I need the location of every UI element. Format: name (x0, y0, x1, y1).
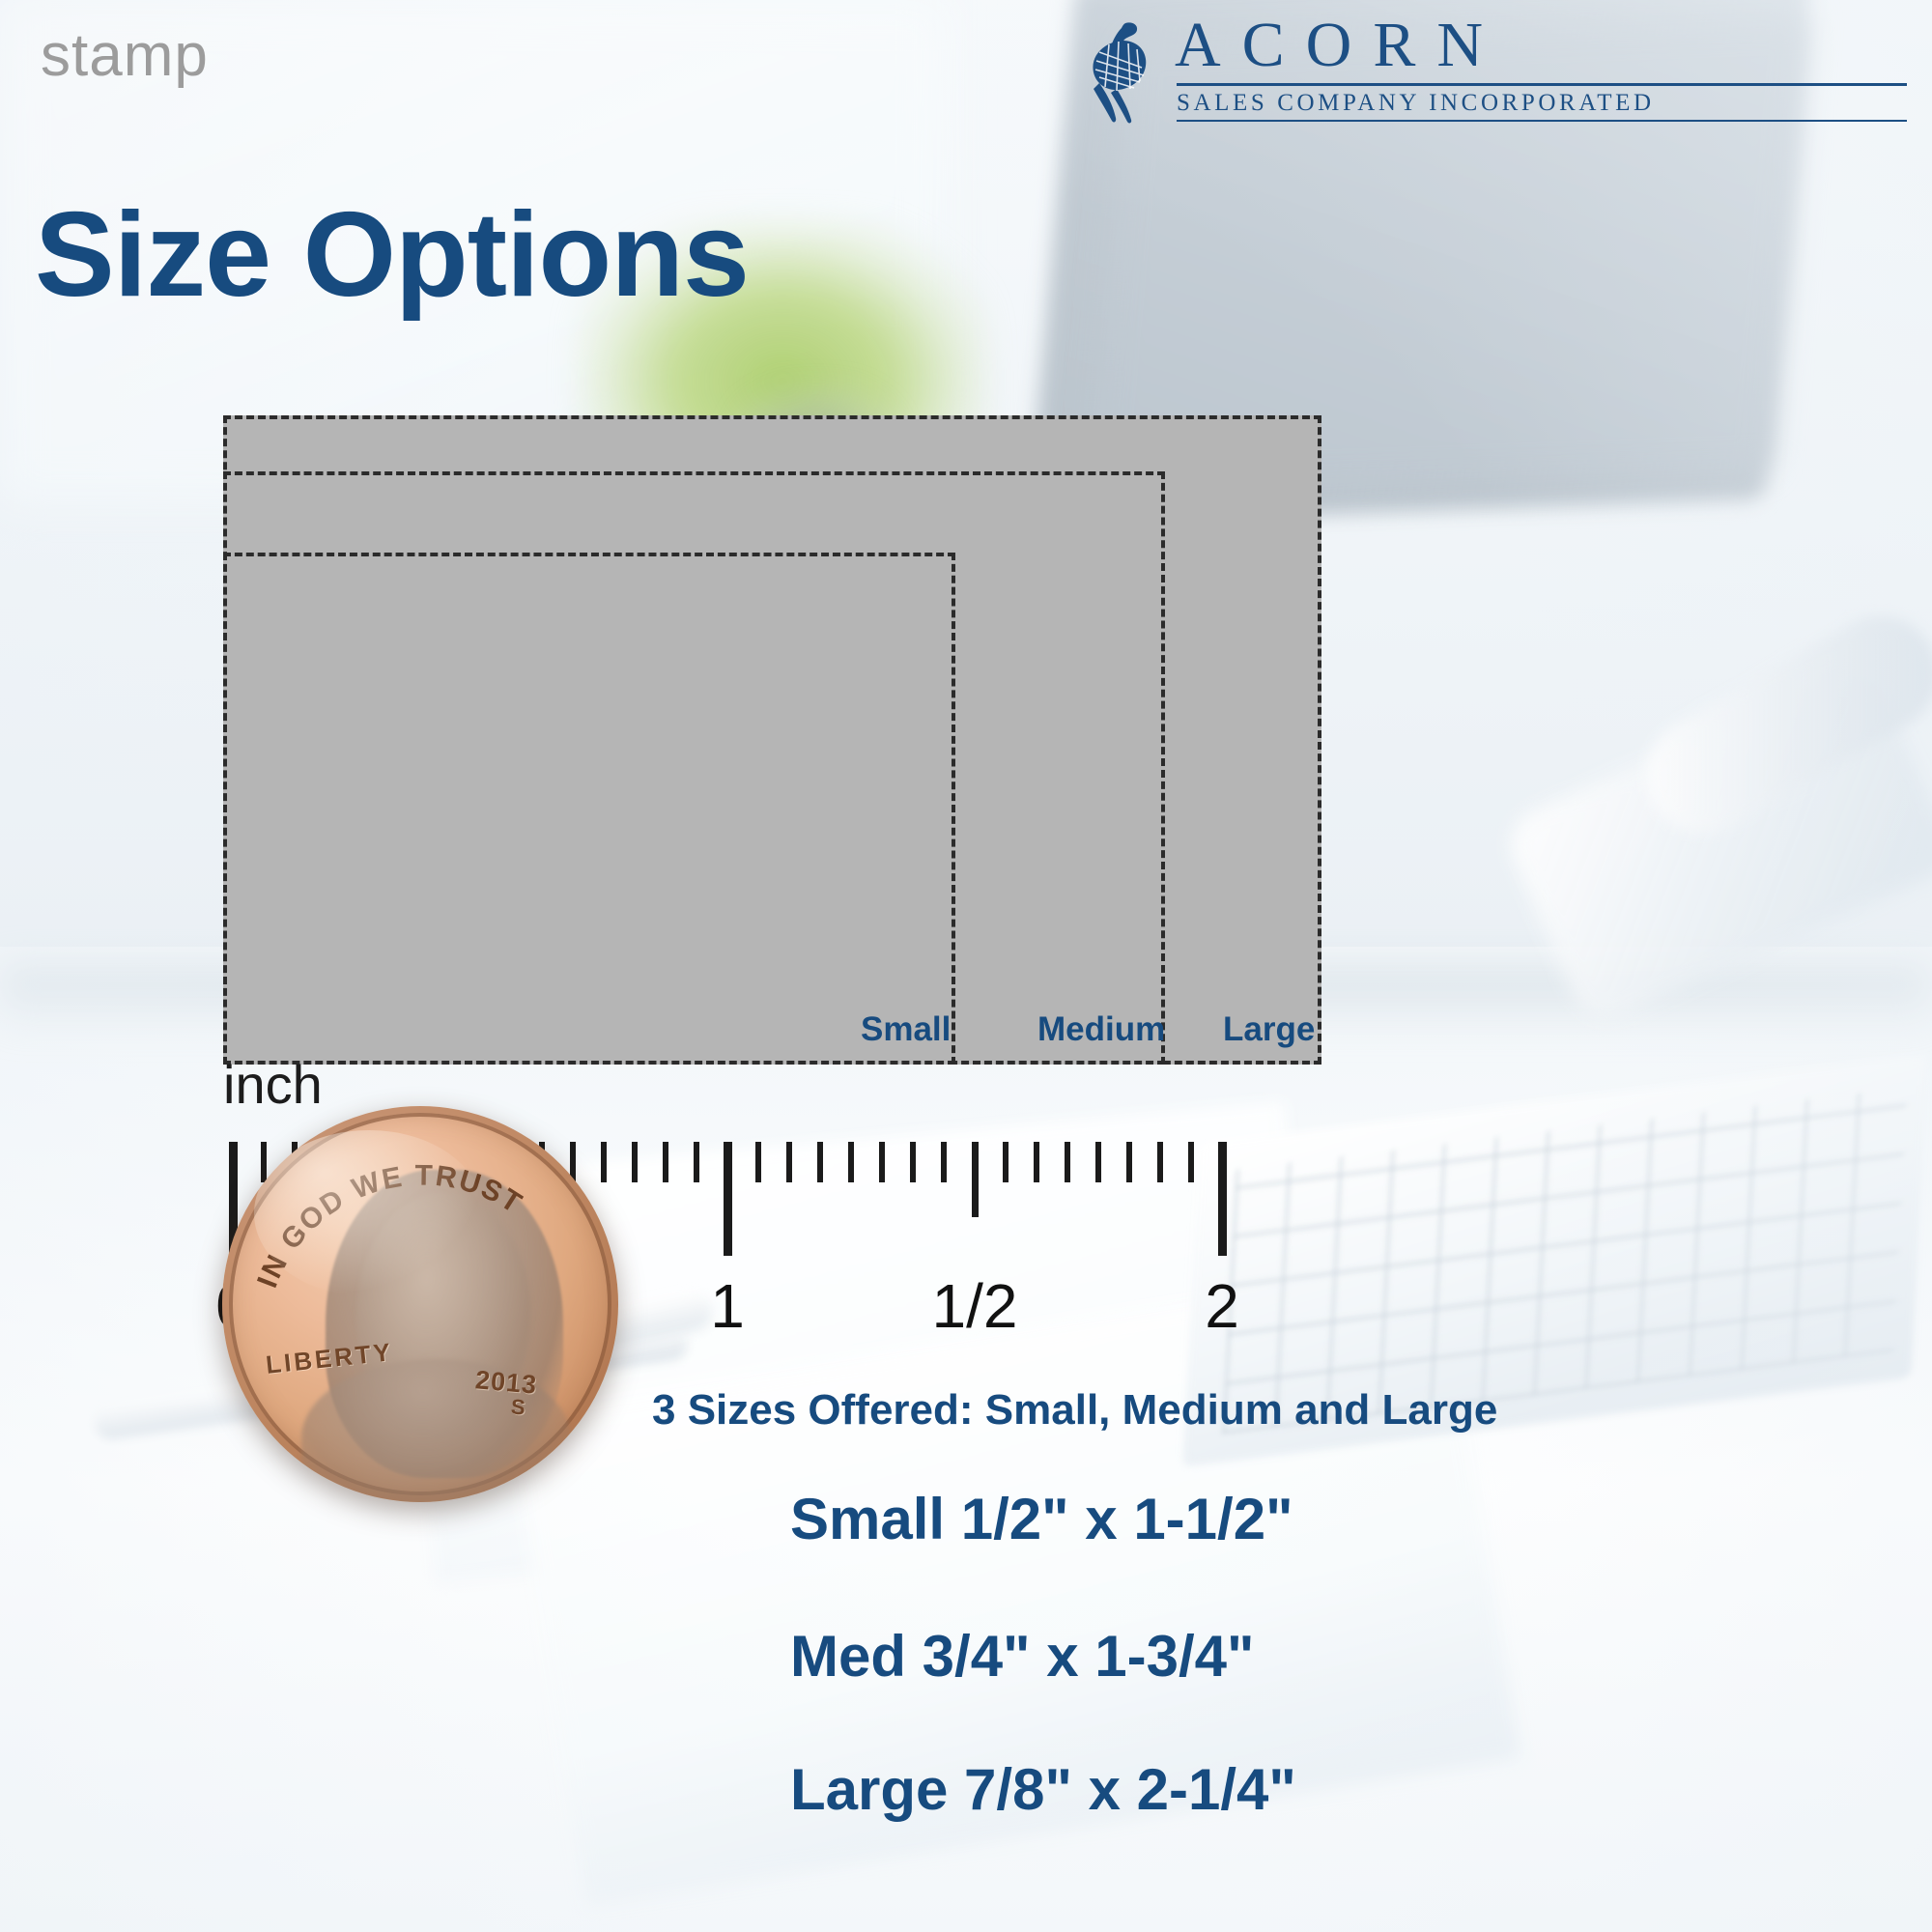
size-comparison-diagram: Small Medium Large (223, 415, 1321, 1065)
ruler-tick-t16 (694, 1142, 699, 1182)
coin-mint-mark: S (510, 1395, 526, 1421)
ruler-tick-t16 (879, 1142, 885, 1182)
ruler-tick-t16 (1003, 1142, 1009, 1182)
eyebrow-label: stamp (41, 21, 209, 90)
size-spec-small: Small 1/2" x 1-1/2" (790, 1486, 1293, 1552)
coin-gloss (254, 1130, 484, 1296)
ruler-tick-t1 (1218, 1142, 1227, 1256)
size-box-label-large: Large (1223, 1010, 1315, 1049)
ruler-tick-t2 (972, 1142, 979, 1217)
ruler-number: 1 (710, 1270, 745, 1342)
ruler-tick-t16 (1034, 1142, 1039, 1182)
ruler-tick-t16 (941, 1142, 947, 1182)
ruler-number: 2 (1205, 1270, 1239, 1342)
ruler-tick-t16 (1065, 1142, 1070, 1182)
size-box-label-medium: Medium (1037, 1010, 1165, 1049)
ruler-number: 1/2 (932, 1270, 1018, 1342)
penny-scale-reference: IN GOD WE TRUST LIBERTY 2013 S (222, 1106, 618, 1502)
logo-divider-top (1177, 83, 1907, 86)
logo-divider-bottom (1177, 120, 1907, 122)
coin-obverse: IN GOD WE TRUST LIBERTY 2013 S (222, 1106, 618, 1502)
ruler-tick-t16 (632, 1142, 638, 1182)
ruler-tick-t16 (755, 1142, 761, 1182)
size-box-small (223, 553, 955, 1065)
brand-logo: ACORN SALES COMPANY INCORPORATED (1070, 10, 1911, 124)
logo-wordmark: ACORN SALES COMPANY INCORPORATED (1175, 10, 1911, 126)
ruler-tick-t16 (1157, 1142, 1163, 1182)
coin-year-text: 2013 (474, 1365, 539, 1400)
size-spec-large: Large 7/8" x 2-1/4" (790, 1756, 1296, 1823)
ruler-tick-t16 (663, 1142, 668, 1182)
size-spec-medium: Med 3/4" x 1-3/4" (790, 1623, 1254, 1690)
ruler-tick-t16 (786, 1142, 792, 1182)
ruler-tick-t16 (1126, 1142, 1132, 1182)
ruler-tick-t16 (817, 1142, 823, 1182)
sizes-offered-headline: 3 Sizes Offered: Small, Medium and Large (652, 1386, 1497, 1435)
logo-tagline: SALES COMPANY INCORPORATED (1175, 90, 1911, 117)
acorn-icon (1070, 17, 1167, 124)
ruler-tick-t16 (1095, 1142, 1101, 1182)
size-box-label-small: Small (861, 1010, 951, 1049)
ruler-tick-t16 (1188, 1142, 1194, 1182)
page-title: Size Options (35, 186, 749, 324)
ruler-tick-t1 (724, 1142, 732, 1256)
ruler-tick-t16 (910, 1142, 916, 1182)
ruler-tick-t16 (848, 1142, 854, 1182)
logo-company-name: ACORN (1175, 10, 1911, 81)
